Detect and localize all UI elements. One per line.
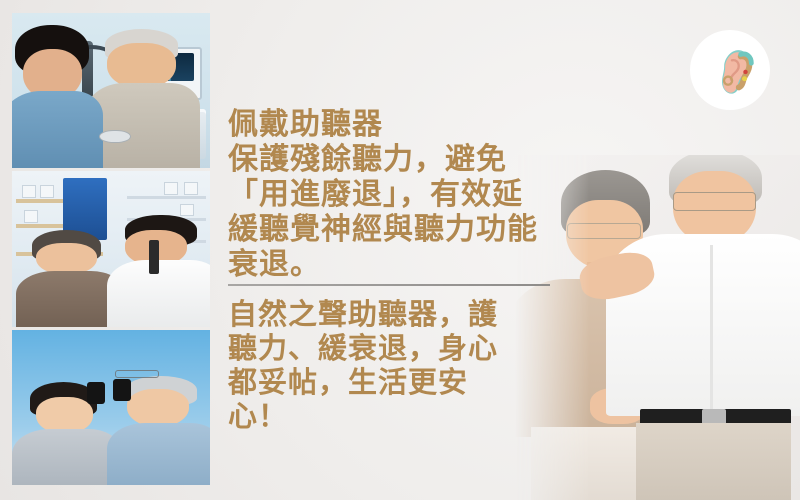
audiologist-scrubs — [12, 91, 103, 168]
headline-line-3: 「用進廢退」，有效延 — [228, 177, 578, 212]
headline-block: 佩戴助聽器 保護殘餘聽力，避免 「用進廢退」，有效延 緩聽覺神經與聽力功能 衰退… — [228, 107, 578, 282]
section-divider — [228, 284, 550, 286]
mobile-phone — [113, 379, 131, 401]
product-box — [24, 210, 38, 222]
headline-line-5: 衰退。 — [228, 247, 578, 282]
shirt-placket — [710, 245, 713, 413]
man-glasses — [115, 370, 159, 378]
subcopy-line-2: 聽力、緩衰退，身心 — [228, 332, 578, 366]
product-box — [164, 182, 178, 194]
audiologist — [12, 25, 103, 168]
subcopy-line-4: 心！ — [228, 400, 578, 434]
elderly-customer — [20, 230, 119, 326]
product-box — [22, 185, 36, 197]
mobile-phone — [87, 382, 105, 404]
headline-line-2: 保護殘餘聽力，避免 — [228, 142, 578, 177]
woman-body — [12, 429, 119, 485]
photo-strip — [12, 13, 210, 485]
headline-line-1: 佩戴助聽器 — [228, 107, 578, 142]
patient-face — [107, 43, 176, 89]
subcopy-block: 自然之聲助聽器，護 聽力、緩衰退，身心 都妥帖，生活更安 心！ — [228, 298, 578, 434]
store-fitting-photo — [12, 171, 210, 326]
product-box — [40, 185, 54, 197]
hearing-aid-promo-banner: 佩戴助聽器 保護殘餘聽力，避免 「用進廢退」，有效延 緩聽覺神經與聽力功能 衰退… — [0, 0, 800, 500]
subcopy-line-1: 自然之聲助聽器，護 — [228, 298, 578, 332]
elderly-patient — [87, 29, 198, 169]
store-staff — [111, 215, 210, 327]
man-body — [107, 423, 210, 485]
couple-phone-photo — [12, 330, 210, 485]
woman-face — [36, 397, 93, 434]
senior-man — [621, 155, 800, 500]
product-box — [184, 182, 198, 194]
senior-man-trousers — [636, 423, 791, 500]
display-shelf — [127, 196, 206, 199]
clinic-consultation-photo — [12, 13, 210, 168]
ear-hearing-aid-icon — [699, 39, 761, 101]
man-face — [127, 389, 189, 427]
headline-line-4: 緩聽覺神經與聽力功能 — [228, 212, 578, 247]
ear-hearing-aid-badge — [690, 30, 770, 110]
senior-man-glasses — [673, 192, 756, 211]
subcopy-line-3: 都妥帖，生活更安 — [228, 366, 578, 400]
staff-lanyard — [149, 240, 159, 274]
